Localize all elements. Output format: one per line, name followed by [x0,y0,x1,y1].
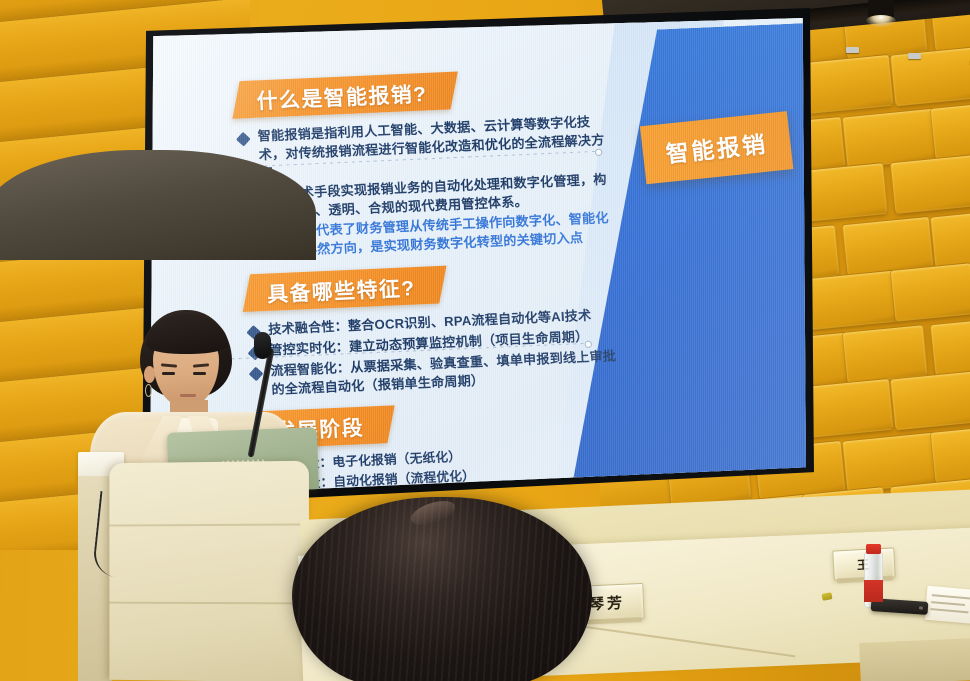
water-bottle-cap [866,544,881,554]
water-bottle-label [864,580,883,602]
wall-panel [890,46,970,107]
podium-seam [109,602,309,605]
wall-panel [802,270,901,331]
wall-panel [842,324,929,384]
remote-indicator [919,606,923,609]
podium-seam [109,523,309,526]
microphone-head-icon [254,332,271,359]
presenter-eye-left [162,372,175,375]
conference-room-scene: 什么是智能报销? 智能报销是指利用人工智能、大数据、云计算等数字化技术，对传统报… [0,0,970,681]
wall-panel [930,208,970,269]
wall-panel [890,262,970,322]
diamond-bullet-icon [236,132,251,147]
presenter-eye-right [193,372,206,375]
wall-panel [930,100,970,160]
wall-panel [890,370,970,431]
attendee-head [292,497,592,681]
spotlight-glow [866,15,896,27]
rail-clip [908,53,921,59]
wall-panel [802,54,895,114]
attendee-hair-strands [292,497,592,681]
paper-line [931,601,965,605]
presenter-earring [145,384,152,397]
wall-panel [930,316,970,376]
presenter-mouth [180,394,196,397]
paper-sheet [925,586,970,625]
wall-panel [930,424,970,484]
attendee-shoulders [0,150,316,260]
table-front-edge [859,637,970,681]
presenter-ear [144,366,155,383]
wall-panel [802,162,889,222]
wall-panel [890,154,970,214]
podium [109,461,309,681]
paper-line [932,594,970,599]
wall-panel [802,378,895,438]
paper-line [931,608,969,613]
rail-clip [846,47,859,53]
